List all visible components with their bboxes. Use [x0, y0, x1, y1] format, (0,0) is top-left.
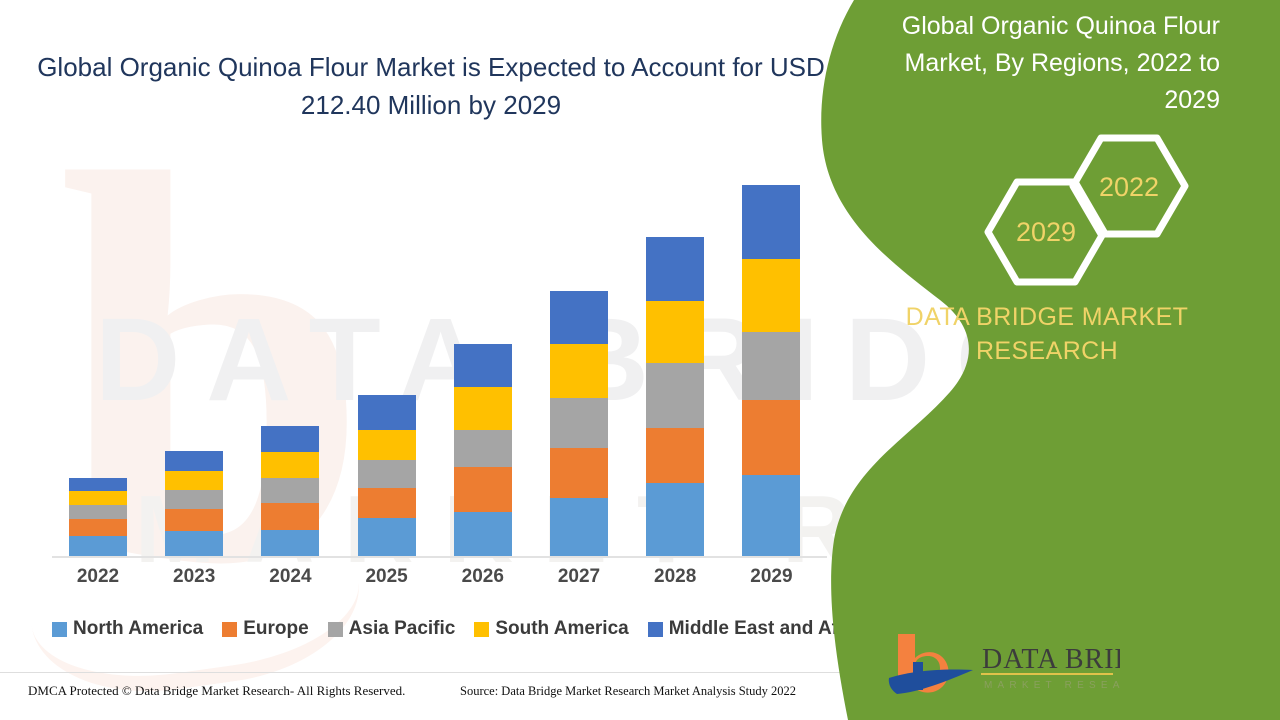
x-axis-label-2028: 2028 — [646, 566, 704, 588]
bar-segment-south-america — [165, 471, 223, 490]
bar-segment-europe — [742, 400, 800, 475]
bar-segment-asia-pacific — [454, 430, 512, 467]
infographic-page: b DATA BRIDGE MARKET RESEARCH Global Org… — [0, 0, 1280, 720]
bar-segment-europe — [550, 448, 608, 498]
bar-2028[interactable] — [646, 237, 704, 556]
bar-segment-middle-east-and-africa — [742, 185, 800, 259]
bar-segment-asia-pacific — [165, 490, 223, 509]
stacked-bar-chart — [0, 0, 840, 600]
bar-2026[interactable] — [454, 344, 512, 556]
legend-label: Europe — [243, 618, 308, 640]
bar-segment-asia-pacific — [69, 505, 127, 519]
bar-2029[interactable] — [742, 185, 800, 556]
bar-segment-north-america — [358, 518, 416, 556]
bar-segment-middle-east-and-africa — [165, 451, 223, 471]
logo-tagline-text: MARKET RESEARCH — [984, 680, 1120, 691]
legend-label: Asia Pacific — [349, 618, 456, 640]
bar-segment-south-america — [261, 452, 319, 478]
legend-swatch-icon — [52, 622, 67, 637]
bar-segment-middle-east-and-africa — [550, 291, 608, 344]
bar-segment-middle-east-and-africa — [358, 395, 416, 430]
x-axis-labels: 20222023202420252026202720282029 — [0, 566, 840, 596]
bar-segment-north-america — [69, 536, 127, 556]
footer-source: Source: Data Bridge Market Research Mark… — [460, 684, 796, 699]
footer-divider — [0, 672, 845, 673]
bar-segment-europe — [358, 488, 416, 518]
bar-segment-europe — [646, 428, 704, 483]
x-axis-label-2029: 2029 — [742, 566, 800, 588]
bar-2022[interactable] — [69, 478, 127, 556]
footer-copyright: DMCA Protected © Data Bridge Market Rese… — [28, 683, 405, 699]
legend-swatch-icon — [328, 622, 343, 637]
bar-segment-europe — [261, 503, 319, 530]
legend-swatch-icon — [222, 622, 237, 637]
logo-name-text: DATA BRIDGE — [982, 644, 1120, 675]
legend-swatch-icon — [474, 622, 489, 637]
data-bridge-logo: DATA BRIDGE MARKET RESEARCH — [885, 628, 1120, 700]
bar-segment-north-america — [261, 530, 319, 556]
bar-segment-europe — [454, 467, 512, 512]
bar-segment-south-america — [454, 387, 512, 430]
brand-line-2: RESEARCH — [862, 334, 1232, 368]
bar-segment-middle-east-and-africa — [646, 237, 704, 301]
bar-segment-south-america — [550, 344, 608, 398]
bar-segment-south-america — [69, 491, 127, 505]
x-axis-label-2026: 2026 — [454, 566, 512, 588]
legend-item-north-america[interactable]: North America — [52, 618, 203, 640]
legend-label: North America — [73, 618, 203, 640]
panel-title: Global Organic Quinoa Flour Market, By R… — [872, 8, 1220, 119]
bar-segment-asia-pacific — [550, 398, 608, 448]
bar-2025[interactable] — [358, 395, 416, 556]
bar-segment-south-america — [742, 259, 800, 332]
bar-2024[interactable] — [261, 426, 319, 556]
bar-segment-north-america — [550, 498, 608, 556]
bar-segment-middle-east-and-africa — [261, 426, 319, 452]
legend-item-asia-pacific[interactable]: Asia Pacific — [328, 618, 456, 640]
bar-segment-south-america — [358, 430, 416, 460]
x-axis-label-2022: 2022 — [69, 566, 127, 588]
legend-swatch-icon — [648, 622, 663, 637]
x-axis-label-2027: 2027 — [550, 566, 608, 588]
legend-item-south-america[interactable]: South America — [474, 618, 628, 640]
logo-b-blue-icon — [913, 662, 923, 690]
bar-2027[interactable] — [550, 291, 608, 556]
bar-segment-north-america — [454, 512, 512, 556]
bar-segment-asia-pacific — [358, 460, 416, 488]
bar-segment-asia-pacific — [646, 363, 704, 428]
brand-wordmark: DATA BRIDGE MARKET RESEARCH — [862, 300, 1232, 368]
bar-segment-north-america — [646, 483, 704, 556]
chart-legend: North AmericaEuropeAsia PacificSouth Ame… — [52, 615, 832, 643]
logo-artwork: DATA BRIDGE MARKET RESEARCH — [885, 628, 1120, 700]
right-green-panel: Global Organic Quinoa Flour Market, By R… — [810, 0, 1280, 720]
x-axis-label-2023: 2023 — [165, 566, 223, 588]
bar-segment-middle-east-and-africa — [454, 344, 512, 387]
bar-segment-north-america — [742, 475, 800, 556]
x-axis-label-2025: 2025 — [358, 566, 416, 588]
bar-segment-europe — [69, 519, 127, 536]
bar-2023[interactable] — [165, 451, 223, 556]
bar-segment-middle-east-and-africa — [69, 478, 127, 491]
bar-segment-asia-pacific — [742, 332, 800, 400]
bar-segment-europe — [165, 509, 223, 531]
brand-line-1: DATA BRIDGE MARKET — [862, 300, 1232, 334]
legend-item-europe[interactable]: Europe — [222, 618, 308, 640]
x-axis-label-2024: 2024 — [261, 566, 319, 588]
bar-segment-asia-pacific — [261, 478, 319, 503]
bar-segment-south-america — [646, 301, 704, 363]
x-axis-line — [52, 556, 827, 558]
legend-label: South America — [495, 618, 628, 640]
bar-segment-north-america — [165, 531, 223, 556]
